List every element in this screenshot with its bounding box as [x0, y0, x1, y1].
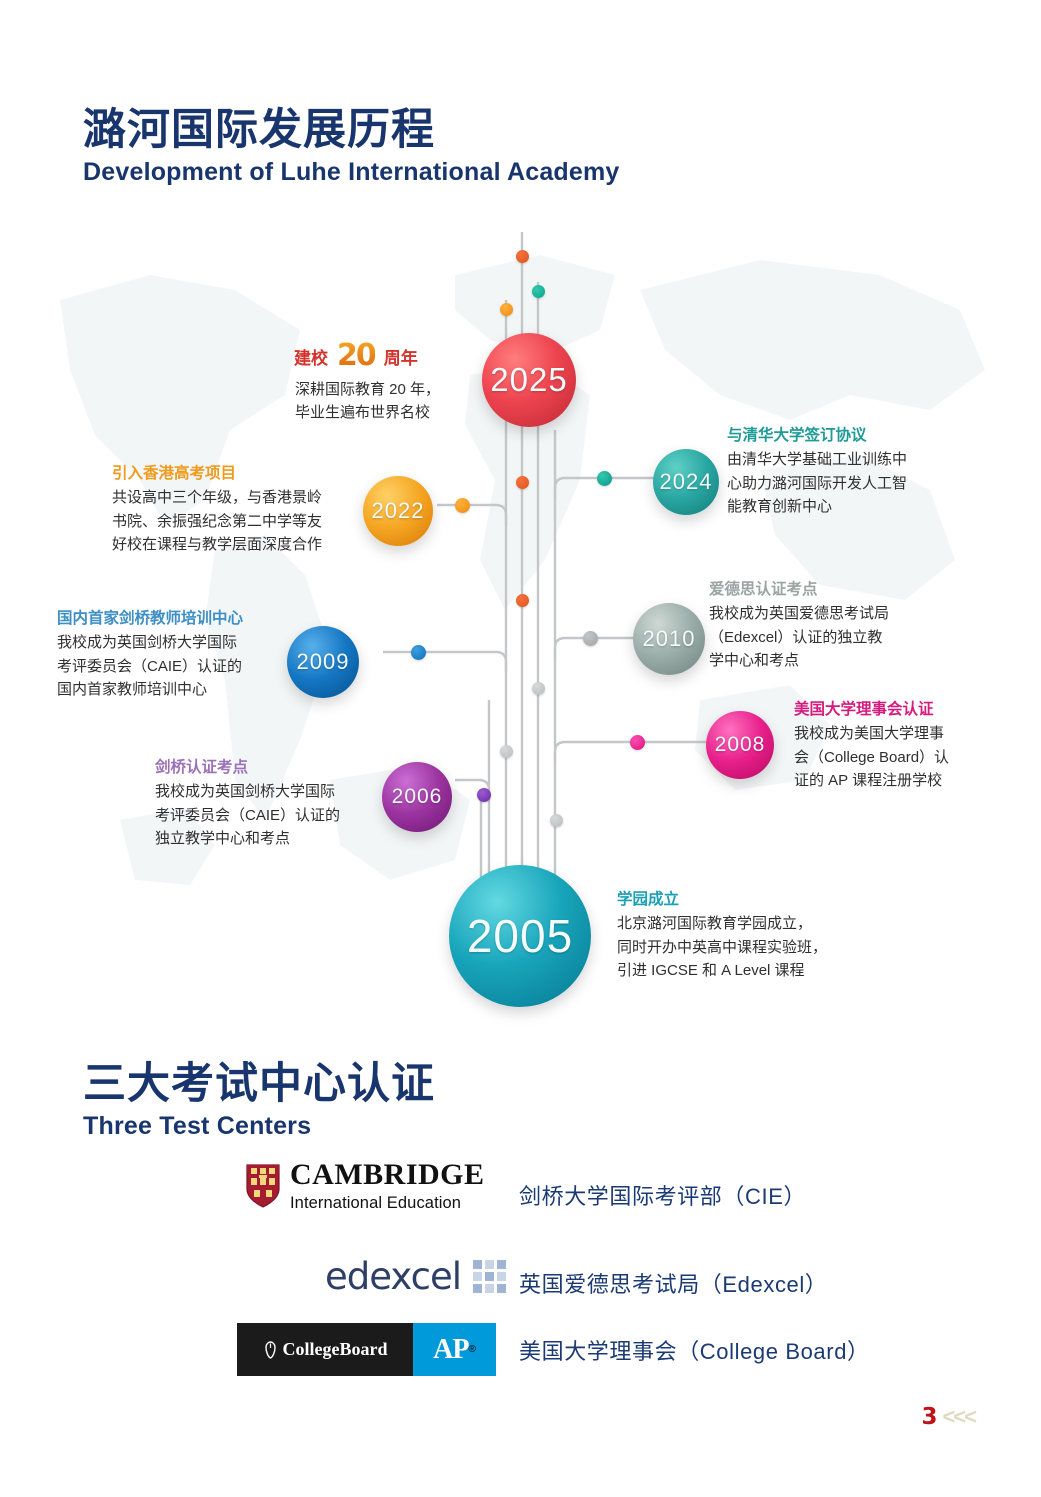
test-center-row-collegeboard: CollegeBoard AP® 美国大学理事会（College Board） [0, 1323, 1041, 1401]
entry-body-2008: 我校成为美国大学理事 会（College Board）认 证的 AP 课程注册学… [794, 722, 949, 792]
timeline-year-2008: 2008 [715, 733, 766, 757]
timeline-ball-2008[interactable]: 2008 [706, 711, 774, 779]
collegeboard-caption: 美国大学理事会（College Board） [519, 1341, 870, 1363]
branch-dot-2009 [411, 645, 426, 660]
timeline-entry-2024: 与清华大学签订协议 由清华大学基础工业训练中 心助力潞河国际开发人工智 能教育创… [727, 426, 907, 518]
decorative-dot-gray-2 [500, 745, 513, 758]
timeline-entry-2025: 深耕国际教育 20 年， 毕业生遍布世界名校 [295, 378, 440, 425]
timeline-entry-2005: 学园成立 北京潞河国际教育学园成立， 同时开办中英高中课程实验班， 引进 IGC… [617, 890, 827, 982]
entry-body-2010: 我校成为英国爱德思考试局 （Edexcel）认证的独立教 学中心和考点 [709, 602, 889, 672]
decorative-dot-teal-1 [532, 285, 545, 298]
timeline-section-heading: 潞河国际发展历程 Development of Luhe Internation… [83, 108, 620, 187]
acorn-icon [263, 1341, 278, 1359]
timeline-year-2022: 2022 [372, 498, 425, 524]
decorative-dot-orange-2 [500, 303, 513, 316]
edexcel-dot-grid-icon [473, 1260, 506, 1293]
timeline-entry-2008: 美国大学理事会认证 我校成为美国大学理事 会（College Board）认 证… [794, 700, 949, 792]
page-footer: 3 <<< [921, 1404, 975, 1430]
branch-dot-2008 [630, 735, 645, 750]
entry-body-2005: 北京潞河国际教育学园成立， 同时开办中英高中课程实验班， 引进 IGCSE 和 … [617, 912, 827, 982]
anniversary-prefix: 建校 [294, 344, 328, 369]
timeline-entry-2022: 引入香港高考项目 共设高中三个年级，与香港景岭 书院、余振强纪念第二中学等友 好… [112, 464, 322, 556]
decorative-dot-orange-3 [516, 476, 529, 489]
branch-dot-2022 [455, 498, 470, 513]
entry-body-2022: 共设高中三个年级，与香港景岭 书院、余振强纪念第二中学等友 好校在课程与教学层面… [112, 486, 322, 556]
branch-dot-2006 [477, 788, 491, 802]
cambridge-logo-line1: CAMBRIDGE [290, 1160, 485, 1190]
collegeboard-block: CollegeBoard [237, 1323, 413, 1376]
centers-title-cn: 三大考试中心认证 [83, 1062, 435, 1107]
test-center-row-edexcel: edexcel 英国爱德思考试局（Edexcel） [0, 1252, 1041, 1330]
timeline-entry-2010: 爱德思认证考点 我校成为英国爱德思考试局 （Edexcel）认证的独立教 学中心… [709, 580, 889, 672]
entry-title-2022: 引入香港高考项目 [112, 464, 322, 483]
timeline-ball-2024[interactable]: 2024 [653, 449, 719, 515]
decorative-dot-gray-1 [532, 682, 545, 695]
anniversary-number: 20 [337, 341, 375, 371]
decorative-dot-gray-3 [550, 814, 563, 827]
entry-title-2010: 爱德思认证考点 [709, 580, 889, 599]
test-center-row-cambridge: CAMBRIDGE International Education 剑桥大学国际… [0, 1160, 1041, 1238]
timeline-entry-2006: 剑桥认证考点 我校成为英国剑桥大学国际 考评委员会（CAIE）认证的 独立教学中… [155, 758, 340, 850]
entry-body-2009: 我校成为英国剑桥大学国际 考评委员会（CAIE）认证的 国内首家教师培训中心 [57, 631, 243, 701]
branch-dot-2010 [583, 631, 598, 646]
timeline-ball-2022[interactable]: 2022 [363, 476, 433, 546]
timeline-year-2010: 2010 [643, 626, 696, 652]
centers-section-heading: 三大考试中心认证 Three Test Centers [83, 1062, 435, 1141]
timeline-entry-2009: 国内首家剑桥教师培训中心 我校成为英国剑桥大学国际 考评委员会（CAIE）认证的… [57, 609, 243, 701]
timeline-ball-2006[interactable]: 2006 [382, 762, 452, 832]
entry-title-2005: 学园成立 [617, 890, 827, 909]
timeline-ball-2010[interactable]: 2010 [633, 603, 705, 675]
cambridge-caption: 剑桥大学国际考评部（CIE） [519, 1186, 806, 1208]
entry-body-2025: 深耕国际教育 20 年， 毕业生遍布世界名校 [295, 378, 440, 425]
entry-title-2006: 剑桥认证考点 [155, 758, 340, 777]
edexcel-logo: edexcel [325, 1258, 506, 1295]
anniversary-suffix: 周年 [384, 344, 418, 369]
timeline-ball-2009[interactable]: 2009 [287, 626, 359, 698]
timeline-year-2006: 2006 [392, 785, 443, 809]
timeline-ball-2025[interactable]: 2025 [482, 333, 576, 427]
centers-title-en: Three Test Centers [83, 1111, 435, 1141]
decorative-dot-orange-4 [516, 594, 529, 607]
timeline-title-cn: 潞河国际发展历程 [83, 108, 620, 153]
ap-wordmark: AP [433, 1334, 468, 1366]
anniversary-badge: 建校 20 周年 [294, 341, 418, 371]
cambridge-crest-icon [245, 1163, 281, 1209]
edexcel-caption: 英国爱德思考试局（Edexcel） [519, 1274, 827, 1296]
timeline-ball-2005[interactable]: 2005 [449, 865, 591, 1007]
branch-dot-2024 [597, 471, 612, 486]
timeline-title-en: Development of Luhe International Academ… [83, 157, 620, 187]
cambridge-logo-line2: International Education [290, 1195, 485, 1212]
cambridge-logo: CAMBRIDGE International Education [245, 1160, 485, 1212]
chevron-left-icon: <<< [942, 1404, 975, 1430]
entry-title-2008: 美国大学理事会认证 [794, 700, 949, 719]
entry-body-2006: 我校成为英国剑桥大学国际 考评委员会（CAIE）认证的 独立教学中心和考点 [155, 780, 340, 850]
timeline-year-2024: 2024 [660, 469, 713, 495]
ap-block: AP® [413, 1323, 496, 1376]
page-number: 3 [921, 1404, 937, 1430]
edexcel-logo-wordmark: edexcel [325, 1258, 461, 1295]
timeline-year-2025: 2025 [490, 361, 567, 399]
timeline-year-2005: 2005 [467, 909, 573, 963]
entry-title-2024: 与清华大学签订协议 [727, 426, 907, 445]
collegeboard-ap-logo: CollegeBoard AP® [237, 1323, 496, 1376]
timeline-year-2009: 2009 [297, 649, 350, 675]
decorative-dot-orange-1 [516, 250, 529, 263]
entry-title-2009: 国内首家剑桥教师培训中心 [57, 609, 243, 628]
collegeboard-wordmark: CollegeBoard [283, 1339, 388, 1360]
entry-body-2024: 由清华大学基础工业训练中 心助力潞河国际开发人工智 能教育创新中心 [727, 448, 907, 518]
